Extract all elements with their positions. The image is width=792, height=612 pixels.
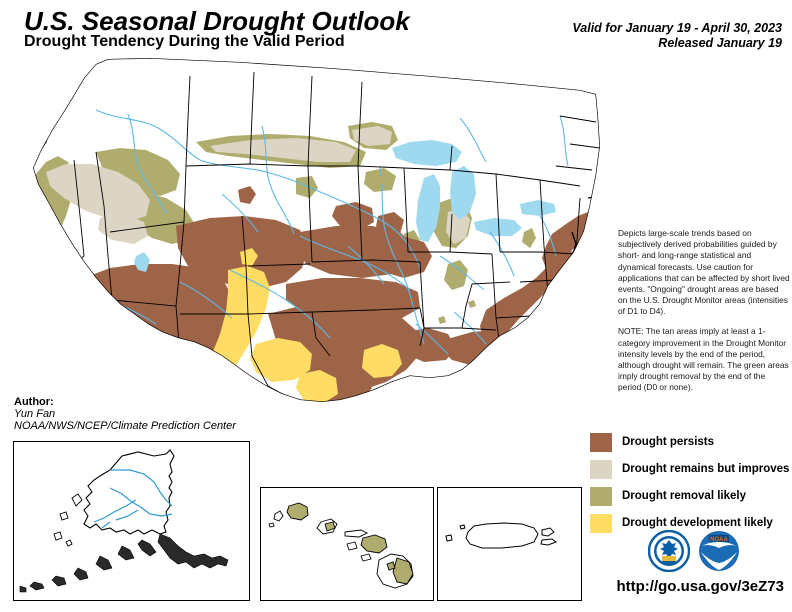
header: U.S. Seasonal Drought Outlook Drought Te… (0, 0, 792, 58)
valid-period-text: Valid for January 19 - April 30, 2023 (572, 21, 782, 35)
legend-label-removal: Drought removal likely (622, 490, 746, 502)
agency-logos: NOAA (648, 530, 768, 572)
legend-swatch-improves (590, 460, 612, 479)
inset-map-alaska[interactable] (13, 441, 250, 601)
noaa-logo-text: NOAA (710, 537, 728, 543)
alaska-panhandle (20, 534, 228, 592)
legend-item-persists[interactable]: Drought persists (590, 431, 790, 453)
alaska-islands (54, 494, 82, 546)
department-of-commerce-seal-icon (648, 530, 690, 577)
inset-map-puerto-rico[interactable] (437, 487, 582, 601)
author-label: Author: (14, 396, 314, 408)
legend-label-improves: Drought remains but improves (622, 463, 789, 475)
source-url[interactable]: http://go.usa.gov/3eZ73 (616, 578, 784, 595)
inset-map-hawaii[interactable] (260, 487, 434, 601)
legend-swatch-development (590, 514, 612, 533)
description-paragraph-1: Depicts large-scale trends based on subj… (618, 228, 790, 317)
hawaii-islands (269, 503, 413, 588)
page-subtitle: Drought Tendency During the Valid Period (24, 33, 345, 51)
noaa-logo-icon: NOAA (698, 530, 740, 577)
legend-swatch-persists (590, 433, 612, 452)
author-organization: NOAA/NWS/NCEP/Climate Prediction Center (14, 420, 314, 432)
map-description-text: Depicts large-scale trends based on subj… (618, 228, 790, 402)
legend-item-improves[interactable]: Drought remains but improves (590, 458, 790, 480)
legend-item-removal[interactable]: Drought removal likely (590, 485, 790, 507)
puerto-rico-outline (446, 523, 556, 548)
legend-label-development: Drought development likely (622, 517, 773, 529)
author-name: Yun Fan (14, 408, 314, 420)
author-block: Author: Yun Fan NOAA/NWS/NCEP/Climate Pr… (14, 396, 314, 432)
description-paragraph-2: NOTE: The tan areas imply at least a 1-c… (618, 326, 790, 393)
released-date-text: Released January 19 (658, 36, 782, 50)
map-legend: Drought persists Drought remains but imp… (590, 431, 790, 539)
conus-drought-map[interactable] (0, 56, 616, 436)
legend-swatch-removal (590, 487, 612, 506)
legend-label-persists: Drought persists (622, 436, 714, 448)
